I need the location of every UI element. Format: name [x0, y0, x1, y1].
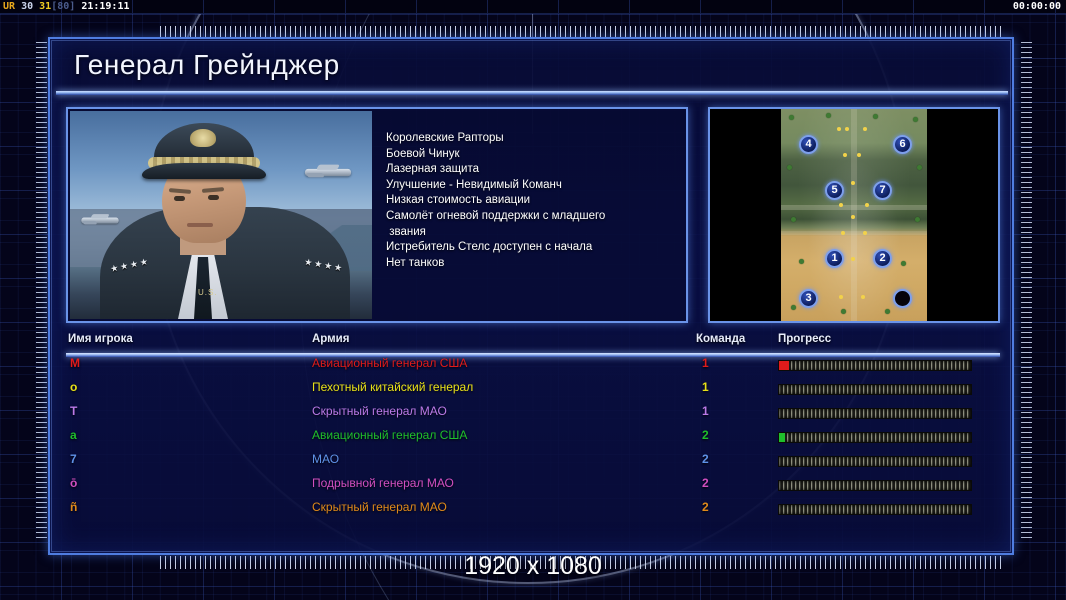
minimap-tree [915, 217, 920, 222]
table-row[interactable]: MАвиационный генерал США1 [66, 353, 1000, 377]
player-name: ñ [70, 500, 77, 514]
minimap-resource [837, 127, 841, 131]
player-army: Скрытный генерал МАО [312, 404, 447, 418]
ability-item: Низкая стоимость авиации [386, 193, 682, 209]
portrait-eye-right [208, 195, 219, 200]
minimap-tree [787, 165, 792, 170]
player-army: МАО [312, 452, 339, 466]
minimap-resource [839, 203, 843, 207]
minimap-resource [845, 127, 849, 131]
minimap-start-position[interactable]: 4 [799, 135, 818, 154]
table-header-row: Имя игрока Армия Команда Прогресс [66, 333, 1000, 353]
table-row[interactable]: 7МАО2 [66, 449, 1000, 473]
column-header-player-name: Имя игрока [68, 333, 133, 345]
topbar-grid-overlay [0, 0, 1066, 13]
eagle-emblem-icon [190, 129, 216, 147]
ruler-right [1021, 42, 1032, 542]
topbar-label: UR [3, 1, 15, 12]
player-progress-bar [778, 408, 972, 419]
minimap-start-position[interactable]: 1 [825, 249, 844, 268]
column-header-progress: Прогресс [778, 333, 831, 345]
minimap-resource [839, 295, 843, 299]
aircraft-icon [81, 218, 118, 224]
resolution-label: 1920 x 1080 [0, 552, 1066, 581]
progress-fill [779, 433, 785, 442]
aircraft-icon [305, 169, 351, 176]
minimap-tree [917, 165, 922, 170]
minimap-resource [851, 257, 855, 261]
player-army: Авиационный генерал США [312, 356, 467, 370]
player-name: 7 [70, 452, 77, 466]
ability-item: Королевские Рапторы [386, 131, 682, 147]
minimap-resource [841, 231, 845, 235]
minimap-tree [791, 305, 796, 310]
minimap-resource [851, 181, 855, 185]
player-name: ō [70, 476, 77, 490]
minimap-road [781, 231, 927, 235]
page-title: Генерал Грейнджер [74, 49, 340, 81]
minimap-tree [873, 114, 878, 119]
minimap-start-position[interactable]: 7 [873, 181, 892, 200]
minimap-resource [857, 153, 861, 157]
ability-item: Самолёт огневой поддержки с младшего [386, 209, 682, 225]
table-row[interactable]: ñСкрытный генерал МАО2 [66, 497, 1000, 521]
player-progress-bar [778, 504, 972, 515]
player-army: Пехотный китайский генерал [312, 380, 473, 394]
minimap-start-position[interactable]: 3 [799, 289, 818, 308]
minimap-resource [843, 153, 847, 157]
table-row[interactable]: oПехотный китайский генерал1 [66, 377, 1000, 401]
player-progress-bar [778, 480, 972, 491]
ability-item: Нет танков [386, 256, 682, 272]
ability-item: Лазерная защита [386, 162, 682, 178]
topbar-bracket-value: [80] [51, 1, 75, 12]
minimap-resource [861, 295, 865, 299]
info-row: ★★★★ ★★★★ U.S. Королевские Рапторы Боево… [66, 107, 1000, 323]
minimap-resource [863, 127, 867, 131]
minimap-preview[interactable]: 4 6 5 7 1 2 3 [708, 107, 1000, 323]
minimap-tree [901, 261, 906, 266]
player-progress-bar [778, 384, 972, 395]
portrait-hat-brim [142, 163, 266, 179]
minimap-tree [841, 309, 846, 314]
player-army: Скрытный генерал МАО [312, 500, 447, 514]
player-name: M [70, 356, 80, 370]
table-row[interactable]: aАвиационный генерал США2 [66, 425, 1000, 449]
minimap-tree [799, 259, 804, 264]
ability-list: Королевские Рапторы Боевой Чинук Лазерна… [386, 131, 682, 271]
player-team: 1 [702, 380, 709, 394]
ruler-top [160, 26, 1005, 37]
player-name: T [70, 404, 77, 418]
player-team: 2 [702, 452, 709, 466]
minimap-tree [913, 117, 918, 122]
table-body: MАвиационный генерал США1oПехотный китай… [66, 353, 1000, 521]
ability-item: Улучшение - Невидимый Команч [386, 178, 682, 194]
player-name: o [70, 380, 77, 394]
minimap-road [781, 205, 927, 210]
ability-item: Боевой Чинук [386, 147, 682, 163]
uniform-tag: U.S. [198, 288, 218, 297]
column-header-team: Команда [696, 333, 745, 345]
player-army: Авиационный генерал США [312, 428, 467, 442]
topbar-left-group: UR 30 31[80] 21:19:11 [3, 0, 130, 14]
minimap-resource [865, 203, 869, 207]
player-progress-bar [778, 360, 972, 371]
topbar-value-1: 30 [21, 1, 33, 12]
player-team: 1 [702, 404, 709, 418]
ability-item: Истребитель Стелс доступен с начала [386, 240, 682, 256]
minimap-terrain: 4 6 5 7 1 2 3 [781, 109, 927, 321]
topbar-clock: 21:19:11 [81, 1, 129, 12]
general-info-panel: Генерал Грейнджер [48, 37, 1014, 555]
table-row[interactable]: ōПодрывной генерал МАО2 [66, 473, 1000, 497]
minimap-resource [851, 215, 855, 219]
progress-fill [779, 361, 789, 370]
ruler-left [36, 42, 47, 542]
player-progress-bar [778, 432, 972, 443]
topbar-timer: 00:00:00 [1013, 0, 1061, 14]
table-row[interactable]: TСкрытный генерал МАО1 [66, 401, 1000, 425]
top-status-bar: UR 30 31[80] 21:19:11 00:00:00 [0, 0, 1066, 14]
player-army: Подрывной генерал МАО [312, 476, 454, 490]
ability-item: звания [386, 225, 682, 241]
player-table: Имя игрока Армия Команда Прогресс MАвиац… [66, 333, 1000, 521]
topbar-value-2: 31 [39, 1, 51, 12]
player-team: 2 [702, 500, 709, 514]
minimap-tree [791, 217, 796, 222]
portrait-mouth [187, 223, 213, 227]
minimap-tree [885, 309, 890, 314]
minimap-start-position[interactable]: 2 [873, 249, 892, 268]
portrait-eye-left [174, 196, 185, 201]
player-team: 1 [702, 356, 709, 370]
general-portrait: ★★★★ ★★★★ U.S. [70, 111, 372, 319]
column-header-army: Армия [312, 333, 349, 345]
minimap-start-position-empty[interactable] [893, 289, 912, 308]
player-team: 2 [702, 476, 709, 490]
general-detail-box: ★★★★ ★★★★ U.S. Королевские Рапторы Боево… [66, 107, 688, 323]
player-team: 2 [702, 428, 709, 442]
minimap-tree [789, 115, 794, 120]
minimap-start-position[interactable]: 5 [825, 181, 844, 200]
minimap-tree [826, 113, 831, 118]
player-name: a [70, 428, 77, 442]
minimap-start-position[interactable]: 6 [893, 135, 912, 154]
player-progress-bar [778, 456, 972, 467]
title-divider [56, 91, 1008, 95]
minimap-resource [863, 231, 867, 235]
